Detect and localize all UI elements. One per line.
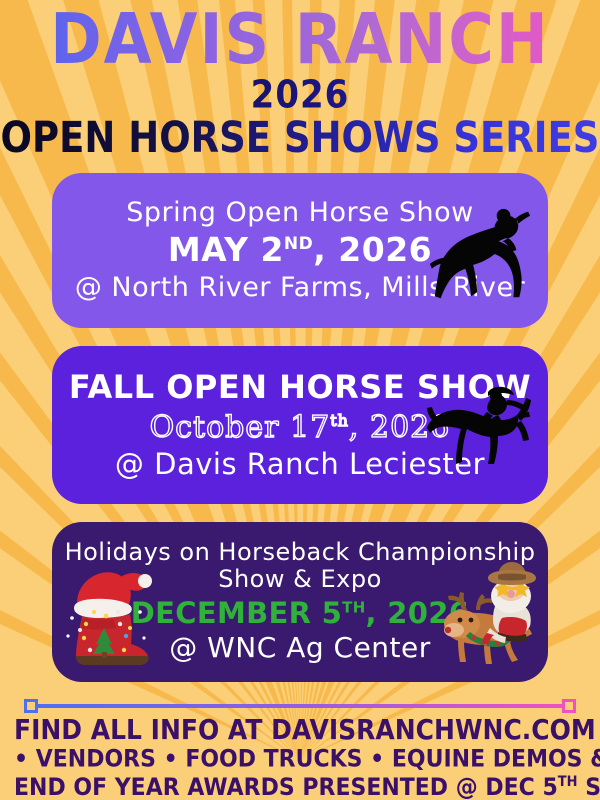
event-venue-fall: @ Davis Ranch Leciester (52, 447, 548, 481)
event-date-fall: October 17th, 2026 (52, 410, 548, 445)
footer-awards-post: SHOW (578, 774, 600, 800)
event-date-spring: MAY 2ND, 2026 (52, 230, 548, 269)
event-venue-spring: @ North River Farms, Mills River (52, 272, 548, 303)
event-date-fall-main: October 17 (150, 410, 331, 445)
poster-header: DAVIS RANCH 2026 OPEN HORSE SHOWS SERIES (0, 0, 600, 159)
event-title-holidays-line2: Show & Expo (52, 566, 548, 593)
footer-awards-ordinal: TH (558, 773, 578, 790)
footer-awards-line: END OF YEAR AWARDS PRESENTED @ DEC 5TH S… (14, 773, 586, 800)
event-card-fall[interactable]: FALL OPEN HORSE SHOW October 17th, 2026 … (52, 346, 548, 504)
event-date-spring-rest: , 2026 (313, 230, 432, 269)
event-card-spring[interactable]: Spring Open Horse Show MAY 2ND, 2026 @ N… (52, 173, 548, 328)
event-title-holidays-line1: Holidays on Horseback Championship (52, 540, 548, 566)
event-title-spring: Spring Open Horse Show (52, 197, 548, 228)
event-date-fall-ordinal: th (330, 411, 349, 430)
event-date-holidays-main: DECEMBER 5 (131, 596, 342, 630)
footer-features-line: • VENDORS • FOOD TRUCKS • EQUINE DEMOS &… (14, 746, 586, 774)
year-label: 2026 (0, 72, 600, 117)
series-subtitle: OPEN HORSE SHOWS SERIES (0, 113, 600, 162)
event-title-fall: FALL OPEN HORSE SHOW (52, 368, 548, 406)
footer-awards-pre: END OF YEAR AWARDS PRESENTED @ DEC 5 (14, 774, 558, 800)
poster-footer: FIND ALL INFO AT DAVISRANCHWNC.COM • VEN… (0, 698, 600, 800)
event-date-holidays: DECEMBER 5TH, 2026 (52, 596, 548, 630)
event-cards: Spring Open Horse Show MAY 2ND, 2026 @ N… (0, 173, 600, 682)
divider-square-left-top (24, 699, 38, 713)
divider-line-top (30, 704, 570, 708)
event-date-fall-rest: , 2026 (349, 410, 450, 445)
event-date-spring-main: MAY 2 (168, 230, 284, 269)
poster-root: DAVIS RANCH 2026 OPEN HORSE SHOWS SERIES (0, 0, 600, 800)
footer-website-line[interactable]: FIND ALL INFO AT DAVISRANCHWNC.COM (14, 713, 586, 745)
footer-text-block: FIND ALL INFO AT DAVISRANCHWNC.COM • VEN… (14, 712, 586, 800)
divider-square-right-top (562, 699, 576, 713)
page-title: DAVIS RANCH (0, 6, 600, 74)
divider-top (14, 698, 586, 712)
event-card-holidays[interactable]: Holidays on Horseback Championship Show … (52, 522, 548, 682)
event-date-spring-ordinal: ND (284, 234, 313, 254)
event-venue-holidays: @ WNC Ag Center (52, 631, 548, 664)
event-date-holidays-rest: , 2026 (366, 596, 470, 630)
event-date-holidays-ordinal: TH (342, 598, 365, 616)
